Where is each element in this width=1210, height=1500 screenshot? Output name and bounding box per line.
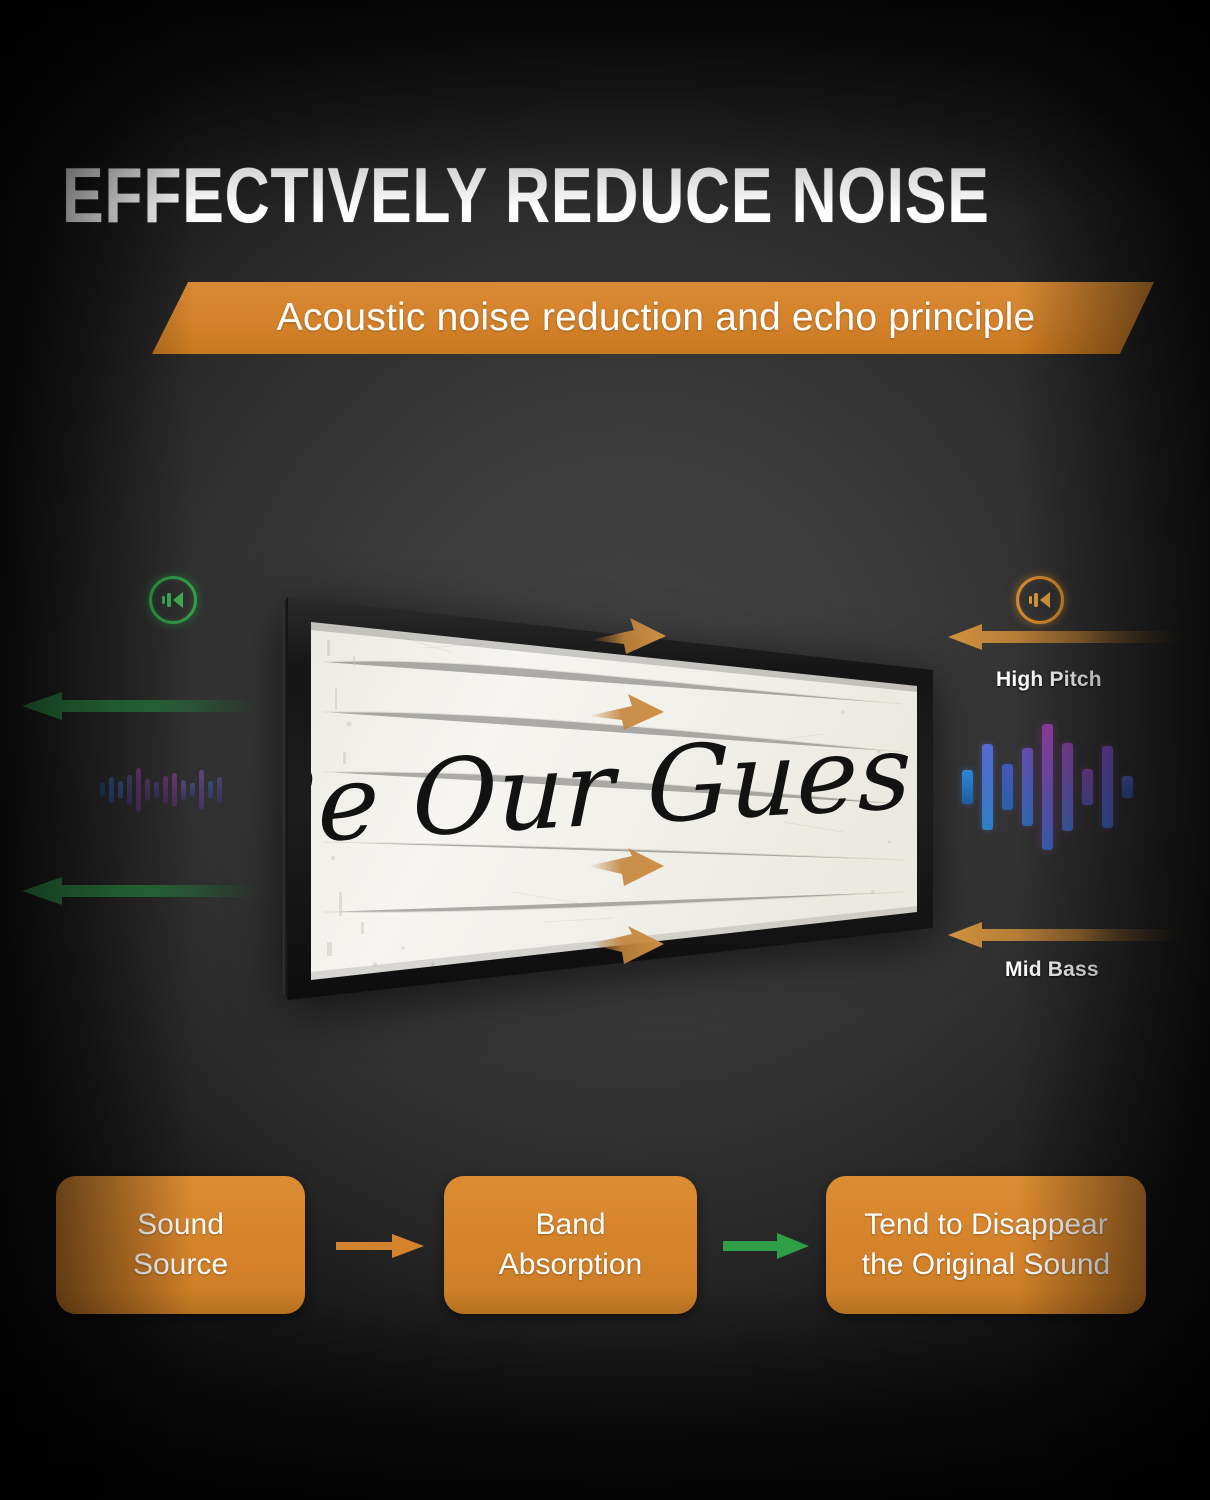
flow-step-disappear-original-sound[interactable]: Tend to Disappear the Original Sound [826, 1176, 1146, 1314]
flow-arrow-2 [723, 1231, 809, 1261]
flow-step-1-line1: Sound [133, 1205, 228, 1245]
high-pitch-arrow [948, 622, 1186, 652]
absorption-arrow-1 [590, 614, 666, 658]
infographic-canvas: EFFECTIVELY REDUCE NOISE Acoustic noise … [0, 0, 1210, 1500]
absorption-arrow-2 [588, 690, 664, 734]
incoming-waveform [962, 722, 1133, 852]
page-title: EFFECTIVELY REDUCE NOISE [62, 155, 990, 235]
attenuated-sound-arrow-bottom [22, 875, 260, 907]
flow-step-2-line1: Band [499, 1205, 642, 1245]
mid-bass-arrow [948, 920, 1186, 950]
high-pitch-label: High Pitch [996, 668, 1102, 692]
process-flow: Sound Source Band Absorption Tend to Dis… [0, 1176, 1210, 1316]
flow-step-band-absorption[interactable]: Band Absorption [444, 1176, 697, 1314]
sound-output-icon [149, 576, 197, 624]
attenuated-waveform [100, 760, 222, 820]
absorption-arrow-3 [588, 848, 664, 892]
flow-step-2-line2: Absorption [499, 1245, 642, 1285]
flow-step-1-line2: Source [133, 1245, 228, 1285]
banner-label: Acoustic noise reduction and echo princi… [152, 282, 1154, 354]
absorption-arrow-4 [588, 926, 664, 970]
flow-step-3-line2: the Original Sound [862, 1245, 1111, 1285]
flow-arrow-1 [336, 1231, 424, 1261]
mid-bass-label: Mid Bass [1005, 958, 1099, 982]
flow-step-3-line1: Tend to Disappear [862, 1205, 1111, 1245]
attenuated-sound-arrow-top [22, 690, 260, 722]
subtitle-banner: Acoustic noise reduction and echo princi… [152, 282, 1154, 354]
sound-input-icon [1016, 576, 1064, 624]
flow-step-sound-source[interactable]: Sound Source [56, 1176, 305, 1314]
